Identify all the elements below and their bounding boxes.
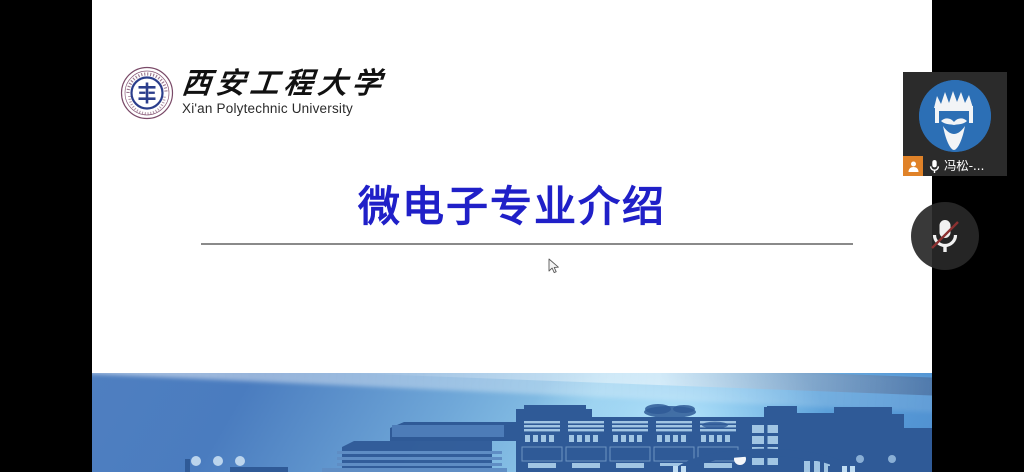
campus-skyline-banner bbox=[92, 373, 932, 472]
screen-root: 西安工程大学 Xi'an Polytechnic University 微电子专… bbox=[0, 0, 1024, 472]
university-logo-lockup: 西安工程大学 Xi'an Polytechnic University bbox=[120, 66, 386, 120]
slide-title: 微电子专业介绍 bbox=[92, 184, 932, 230]
logo-text-block: 西安工程大学 Xi'an Polytechnic University bbox=[182, 70, 386, 116]
microphone-active-icon bbox=[927, 158, 941, 174]
participant-video-tile[interactable]: 冯松-... bbox=[903, 72, 1007, 176]
participant-count-icon bbox=[903, 156, 923, 176]
mute-toggle-button[interactable] bbox=[911, 202, 979, 270]
video-tile-footer: 冯松-... bbox=[903, 156, 1007, 176]
university-name-english: Xi'an Polytechnic University bbox=[182, 102, 386, 116]
participant-avatar bbox=[919, 80, 991, 152]
university-name-chinese: 西安工程大学 bbox=[180, 70, 387, 99]
university-seal-emblem bbox=[120, 66, 174, 120]
campus-arch-gate-silhouette bbox=[92, 373, 932, 472]
presentation-slide: 西安工程大学 Xi'an Polytechnic University 微电子专… bbox=[92, 0, 932, 472]
title-divider-rule bbox=[201, 243, 853, 245]
microphone-muted-icon bbox=[925, 214, 965, 258]
participant-name-label: 冯松-... bbox=[944, 160, 984, 173]
